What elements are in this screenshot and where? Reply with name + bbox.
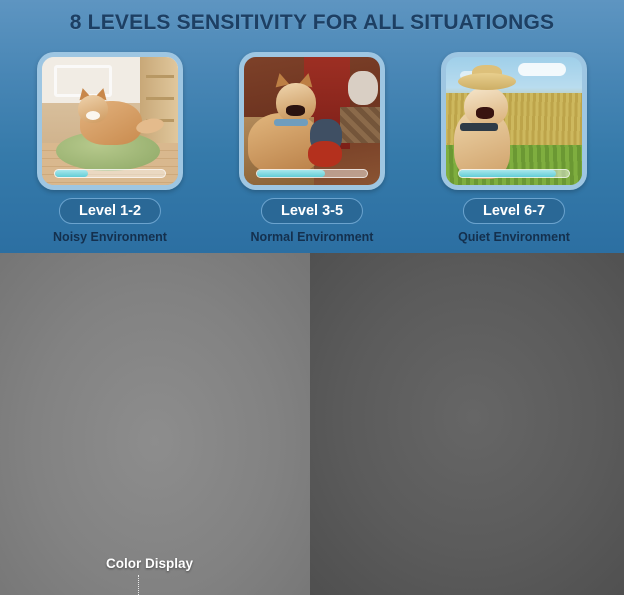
- photo-dog-head: [276, 83, 316, 123]
- level-card: Level 3-5 Normal Environment: [239, 52, 385, 190]
- level-card: Level 1-2 Noisy Environment: [37, 52, 183, 190]
- level-caption: Quiet Environment: [441, 230, 587, 244]
- photo-frame: [441, 52, 587, 190]
- level-card-list: Level 1-2 Noisy Environment: [0, 52, 624, 252]
- photo-dog-snout: [86, 111, 100, 120]
- level-pill[interactable]: Level 3-5: [261, 198, 363, 224]
- device-parts-panel: E-Shock Probe Ultrasonic Transmitter: [310, 253, 624, 595]
- progress-fill: [257, 170, 325, 177]
- photo-dog-toy-base: [308, 141, 342, 167]
- photo-dog-collar: [274, 119, 308, 126]
- page-title: 8 LEVELS SENSITIVITY FOR ALL SITUATIONGS: [0, 11, 624, 35]
- photo-straw-hat: [458, 73, 516, 90]
- sensitivity-progress-bar: [256, 169, 368, 178]
- photo-frame: [239, 52, 385, 190]
- level-caption: Noisy Environment: [37, 230, 183, 244]
- sensitivity-banner: 8 LEVELS SENSITIVITY FOR ALL SITUATIONGS: [0, 0, 624, 253]
- level-pill[interactable]: Level 6-7: [463, 198, 565, 224]
- photo-door-slat: [146, 75, 174, 78]
- dog-photo-quiet: [446, 57, 582, 185]
- dog-photo-noisy: [42, 57, 178, 185]
- photo-dog-mouth: [286, 105, 305, 116]
- annotation-color-display: Color Display: [106, 556, 193, 571]
- photo-dog-mouth: [476, 107, 494, 119]
- photo-hand: [348, 71, 378, 105]
- photo-dog-collar: [460, 123, 498, 131]
- product-infographic: 8 LEVELS SENSITIVITY FOR ALL SITUATIONGS: [0, 0, 624, 595]
- photo-frame: [37, 52, 183, 190]
- dog-photo-normal: [244, 57, 380, 185]
- sensitivity-progress-bar: [458, 169, 570, 178]
- leader-line-color-display: [138, 575, 139, 595]
- photo-cloud: [518, 63, 566, 76]
- level-caption: Normal Environment: [239, 230, 385, 244]
- sensitivity-progress-bar: [54, 169, 166, 178]
- level-pill[interactable]: Level 1-2: [59, 198, 161, 224]
- photo-cushion: [340, 107, 380, 143]
- photo-door-slat: [146, 97, 174, 100]
- progress-fill: [55, 170, 88, 177]
- level-card: Level 6-7 Quiet Environment: [441, 52, 587, 190]
- progress-fill: [459, 170, 556, 177]
- color-display-panel: Color Display 8 SENSITIVITY ⚡ 🔊 ≈ S: [0, 253, 310, 595]
